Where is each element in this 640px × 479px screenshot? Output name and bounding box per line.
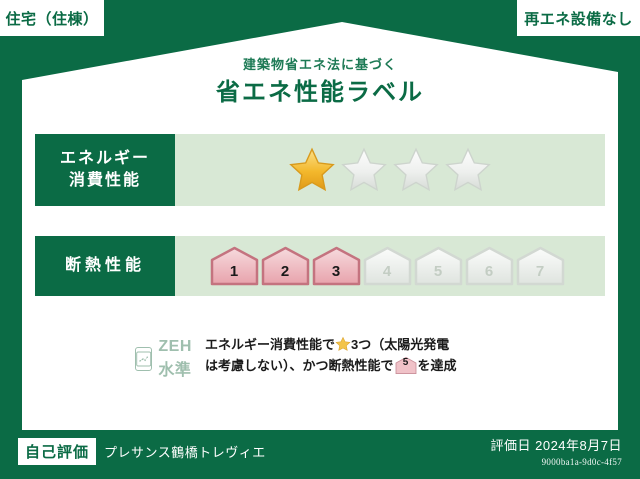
insulation-grade-chip-empty: 5 [414, 246, 463, 286]
insulation-grade-value: 6 [485, 263, 493, 286]
insulation-grade-value: 1 [230, 263, 238, 286]
insulation-grade-value: 3 [332, 263, 340, 286]
insulation-grade-chip-empty: 6 [465, 246, 514, 286]
energy-performance-row: エネルギー 消費性能 [35, 134, 605, 206]
insulation-label-line1: 断熱性能 [65, 255, 145, 277]
zeh-desc-text-1b: 3つ（太陽光発電 [351, 337, 449, 352]
energy-label-line2: 消費性能 [69, 170, 141, 192]
star-rating [287, 146, 493, 194]
renewable-energy-tag: 再エネ設備なし [517, 0, 640, 36]
insulation-grade-value: 5 [434, 263, 442, 286]
zeh-desc-chip-value: 5 [395, 357, 417, 374]
renewable-energy-tag-label: 再エネ設備なし [524, 8, 633, 29]
zeh-description-line2: は考慮しない）、かつ断熱性能で5を達成 [205, 355, 605, 376]
evaluation-id: 9000ba1a-9d0c-4f57 [491, 457, 623, 467]
zeh-desc-text-2b: を達成 [418, 358, 457, 373]
star-icon-filled [287, 146, 337, 194]
energy-label-line1: エネルギー [60, 148, 150, 170]
house-chip-icon: 5 [395, 357, 417, 374]
insulation-performance-rating: 1234567 [175, 236, 605, 296]
zeh-standard-label: ZEH水準 [158, 338, 205, 380]
insulation-performance-row: 断熱性能 1234567 [35, 236, 605, 296]
energy-performance-label: 住宅（住棟） 再エネ設備なし 建築物省エネ法に基づく 省エネ性能ラベル エネルギ… [0, 0, 640, 479]
zeh-desc-text-2a: は考慮しない）、かつ断熱性能で [205, 358, 394, 373]
energy-performance-rating [175, 134, 605, 206]
star-icon-empty [339, 146, 389, 194]
insulation-grade-chip-achieved: 2 [261, 246, 310, 286]
insulation-performance-row-label: 断熱性能 [35, 236, 175, 296]
self-evaluation-badge: 自己評価 [18, 438, 96, 465]
label-title-block: 建築物省エネ法に基づく 省エネ性能ラベル [0, 56, 640, 109]
insulation-grade-chip-achieved: 1 [210, 246, 259, 286]
building-name: プレサンス鶴橋トレヴィエ [104, 442, 266, 461]
insulation-grade-chip-achieved: 3 [312, 246, 361, 286]
insulation-grade-chip-empty: 4 [363, 246, 412, 286]
label-title: 省エネ性能ラベル [0, 77, 640, 109]
zeh-standard-badge: ZEH水準 [35, 330, 205, 380]
evaluation-date: 評価日 2024年8月7日 [491, 435, 623, 454]
insulation-grade-chip-empty: 7 [516, 246, 565, 286]
zeh-standard-section: ZEH水準 エネルギー消費性能で3つ（太陽光発電 は考慮しない）、かつ断熱性能で… [35, 330, 605, 390]
footer-left-block: 自己評価 プレサンス鶴橋トレヴィエ [18, 438, 266, 465]
footer-right-block: 評価日 2024年8月7日 9000ba1a-9d0c-4f57 [491, 435, 623, 467]
insulation-grade-scale: 1234567 [210, 246, 565, 286]
zeh-standard-description: エネルギー消費性能で3つ（太陽光発電 は考慮しない）、かつ断熱性能で5を達成 [205, 330, 605, 376]
insulation-grade-value: 4 [383, 263, 391, 286]
insulation-grade-value: 7 [536, 263, 544, 286]
star-icon-empty [443, 146, 493, 194]
star-icon [335, 336, 351, 352]
insulation-grade-value: 2 [281, 263, 289, 286]
zeh-desc-text-1a: エネルギー消費性能で [205, 337, 335, 352]
star-icon-empty [391, 146, 441, 194]
label-subtitle: 建築物省エネ法に基づく [0, 56, 640, 74]
building-type-tag-label: 住宅（住棟） [5, 8, 98, 29]
building-type-tag: 住宅（住棟） [0, 0, 104, 36]
zeh-icon [135, 347, 152, 371]
energy-performance-row-label: エネルギー 消費性能 [35, 134, 175, 206]
